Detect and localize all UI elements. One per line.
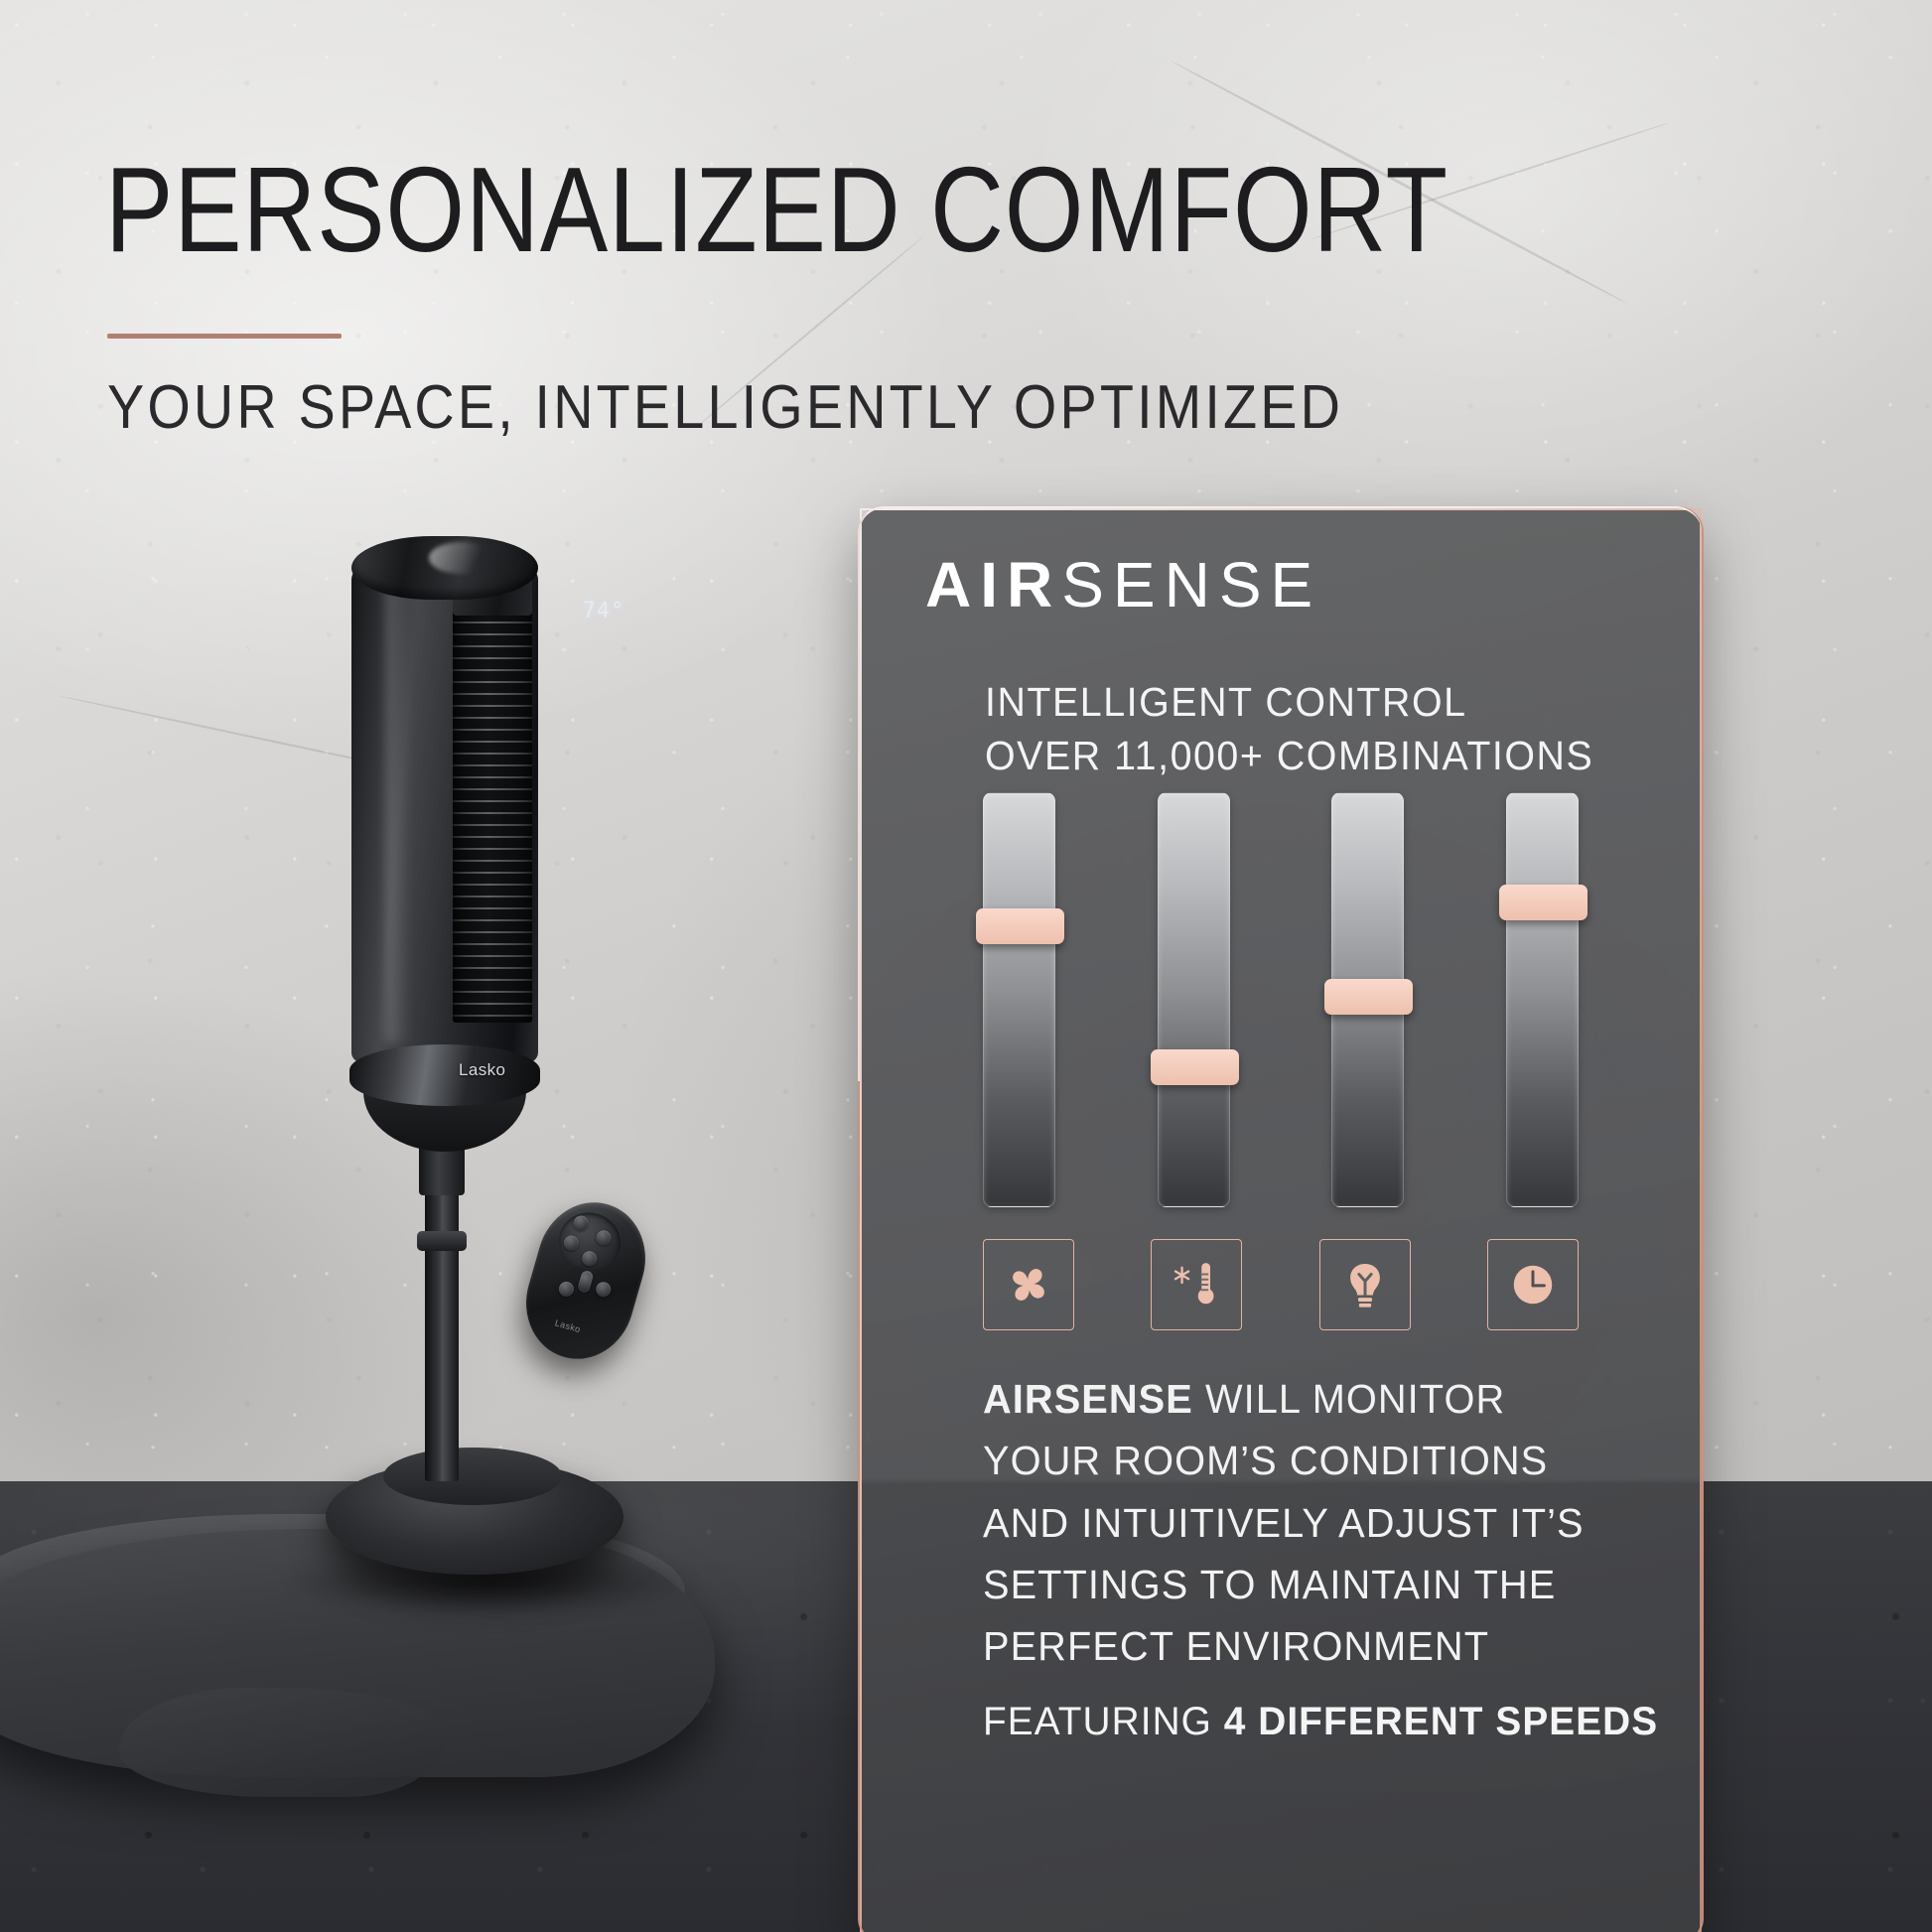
icon-box-temperature[interactable] bbox=[1151, 1239, 1242, 1330]
airsense-subtitle-line-2: OVER 11,000+ COMBINATIONS bbox=[985, 729, 1593, 782]
remote-rocker-switch[interactable] bbox=[577, 1270, 595, 1294]
airsense-description: AIRSENSE WILL MONITOR YOUR ROOM’S CONDIT… bbox=[983, 1368, 1599, 1678]
fan-cap-gloss bbox=[429, 542, 494, 574]
icon-box-fan[interactable] bbox=[983, 1239, 1074, 1330]
icon-box-timer[interactable] bbox=[1487, 1239, 1579, 1330]
fan-grille-shading bbox=[453, 610, 532, 1023]
icon-box-light[interactable] bbox=[1319, 1239, 1411, 1330]
fan-pole-ring bbox=[417, 1231, 467, 1251]
airsense-subtitle: INTELLIGENT CONTROL OVER 11,000+ COMBINA… bbox=[985, 675, 1593, 782]
control-icon-row bbox=[983, 1239, 1579, 1330]
remote-button-oscillate[interactable] bbox=[557, 1280, 576, 1299]
slider-display-light[interactable] bbox=[1331, 792, 1404, 1207]
fan-body-highlight bbox=[385, 576, 411, 1042]
slider-thumb-fan-speed[interactable] bbox=[976, 908, 1064, 944]
control-slider-group bbox=[983, 792, 1579, 1207]
airsense-description-brand: AIRSENSE bbox=[983, 1376, 1193, 1422]
fan-pole bbox=[425, 1183, 459, 1481]
slider-thumb-display-light[interactable] bbox=[1324, 979, 1413, 1015]
airsense-footer-bold: 4 DIFFERENT SPEEDS bbox=[1224, 1700, 1658, 1743]
fan-base-top bbox=[383, 1448, 562, 1505]
slider-timer[interactable] bbox=[1506, 792, 1579, 1207]
slider-temperature[interactable] bbox=[1158, 792, 1230, 1207]
fan-temperature-display: 74° bbox=[572, 594, 635, 627]
product-brand-label: Lasko bbox=[459, 1060, 505, 1080]
page-title: PERSONALIZED COMFORT bbox=[105, 149, 1449, 270]
page-subtitle: YOUR SPACE, INTELLIGENTLY OPTIMIZED bbox=[107, 377, 1343, 439]
clock-icon bbox=[1505, 1257, 1561, 1312]
title-divider bbox=[107, 334, 342, 339]
airsense-footer: FEATURING 4 DIFFERENT SPEEDS bbox=[983, 1700, 1658, 1744]
airsense-logo-sense: SENSE bbox=[1061, 549, 1321, 621]
slider-thumb-temperature[interactable] bbox=[1151, 1049, 1239, 1085]
remote-button-ionizer[interactable] bbox=[595, 1280, 614, 1299]
fan-icon bbox=[1001, 1257, 1056, 1312]
thermometer-snowflake-icon bbox=[1169, 1257, 1224, 1312]
fan-top-cap bbox=[351, 536, 538, 600]
slider-fan-speed[interactable] bbox=[983, 792, 1055, 1207]
promo-image: PERSONALIZED COMFORT YOUR SPACE, INTELLI… bbox=[0, 0, 1932, 1932]
remote-brand-label: Lasko bbox=[554, 1317, 582, 1334]
stone-slab-chip bbox=[119, 1688, 447, 1797]
airsense-logo-air: AIR bbox=[925, 549, 1061, 621]
slider-thumb-timer[interactable] bbox=[1499, 885, 1587, 920]
airsense-footer-light: FEATURING bbox=[983, 1700, 1224, 1743]
airsense-logo: AIRSENSE bbox=[925, 548, 1321, 621]
light-bulb-icon bbox=[1337, 1257, 1393, 1312]
airsense-subtitle-line-1: INTELLIGENT CONTROL bbox=[985, 675, 1593, 729]
fan-neck-ring bbox=[349, 1044, 540, 1106]
tower-fan-product: 74° Lasko bbox=[342, 536, 639, 1628]
